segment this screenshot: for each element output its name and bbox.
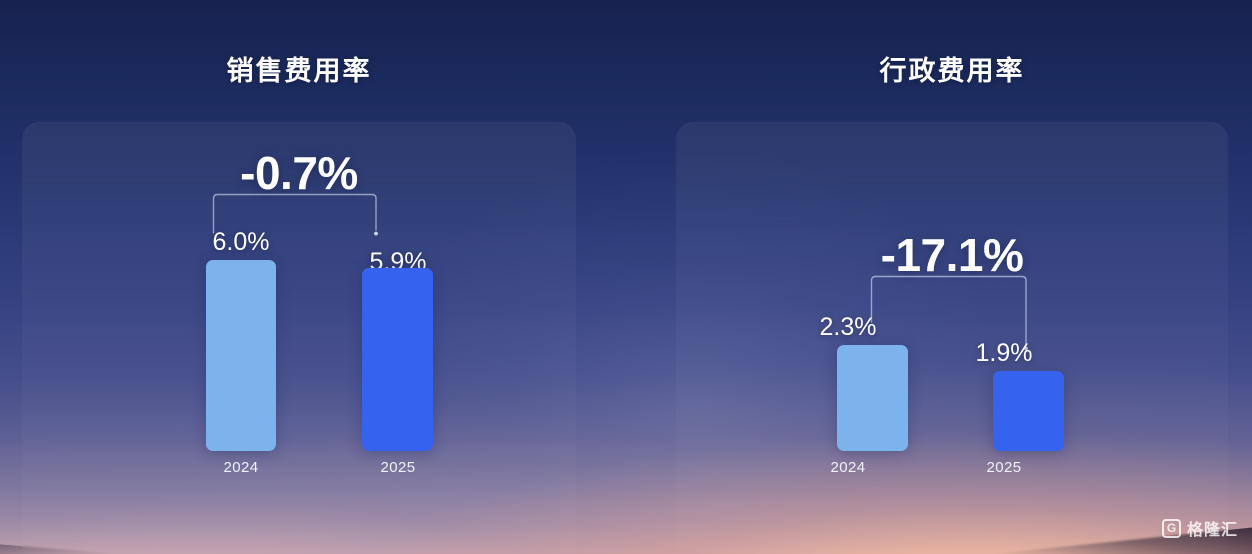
bar-value-admin-2024: 2.3% xyxy=(793,313,903,342)
chart-title-sales-expense-ratio: 销售费用率 xyxy=(22,49,576,88)
bar-chart-sales-expense-ratio: -0.7% 6.0% 2024 5.9% 2025 xyxy=(22,123,576,554)
bar-value-admin-2025: 1.9% xyxy=(949,339,1059,368)
delta-annotation-sales: -0.7% xyxy=(22,146,576,200)
chart-card-admin-expense-ratio: -17.1% 2.3% 2024 1.9% 2025 xyxy=(676,122,1228,554)
bar-label-sales-2025: 2025 xyxy=(343,459,453,476)
chart-card-sales-expense-ratio: -0.7% 6.0% 2024 5.9% 2025 xyxy=(22,122,576,554)
logo-g-icon: G xyxy=(1162,519,1181,538)
bar-sales-2025 xyxy=(362,268,433,451)
watermark: G 格隆汇 xyxy=(1162,516,1238,540)
delta-annotation-admin: -17.1% xyxy=(676,228,1228,282)
bar-admin-2024 xyxy=(837,345,908,451)
chart-title-admin-expense-ratio: 行政费用率 xyxy=(676,49,1228,88)
bar-value-sales-2024: 6.0% xyxy=(186,228,296,257)
slide-canvas: 销售费用率 -0.7% 6.0% 2024 5.9% 2025 行政费用率 xyxy=(0,0,1252,554)
watermark-label: 格隆汇 xyxy=(1187,516,1238,540)
bar-admin-2025 xyxy=(993,371,1064,451)
bar-label-sales-2024: 2024 xyxy=(186,459,296,476)
bar-label-admin-2025: 2025 xyxy=(949,459,1059,476)
bar-sales-2024 xyxy=(206,260,276,451)
bar-label-admin-2024: 2024 xyxy=(793,459,903,476)
bar-chart-admin-expense-ratio: -17.1% 2.3% 2024 1.9% 2025 xyxy=(676,123,1228,554)
